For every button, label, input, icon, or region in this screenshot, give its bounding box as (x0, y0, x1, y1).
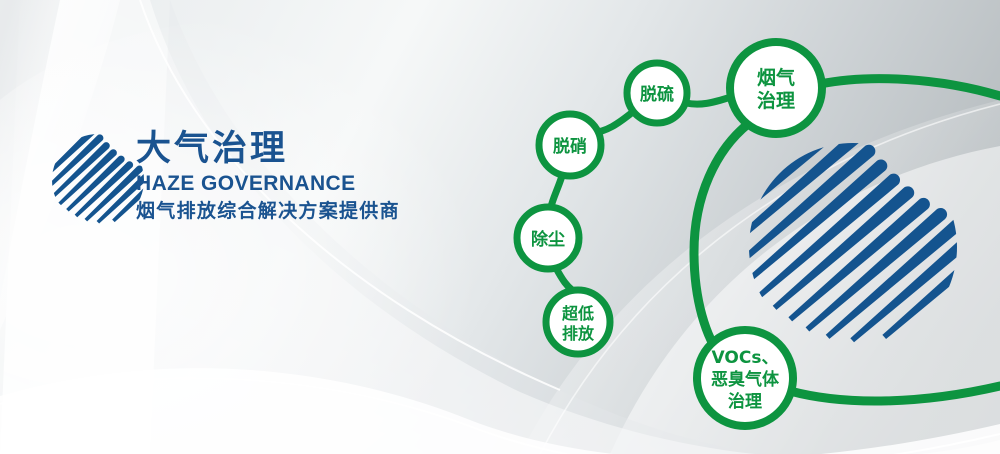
node-vocs[interactable]: VOCs、 恶臭气体 治理 (697, 330, 793, 426)
banner-root: 大气治理 HAZE GOVERNANCE 烟气排放综合解决方案提供商 (0, 0, 1000, 454)
node-main-label-line1: 烟气 (757, 66, 795, 89)
node-main[interactable]: 烟气 治理 (730, 42, 822, 134)
node-dust-removal-label: 除尘 (531, 229, 565, 250)
node-desulfurization[interactable]: 脱硫 (627, 63, 687, 123)
node-vocs-label-line3: 治理 (728, 391, 762, 412)
node-vocs-label-line1: VOCs、 (712, 348, 779, 368)
node-denitrification[interactable]: 脱硝 (539, 114, 601, 176)
node-dust-removal[interactable]: 除尘 (517, 207, 579, 269)
node-main-label-line2: 治理 (757, 89, 795, 112)
process-flow-diagram: 烟气 治理 脱硫 脱硝 除尘 超低 排放 (0, 0, 1000, 454)
connector-main-right-tail (820, 79, 1000, 96)
node-ultra-low-emission[interactable]: 超低 排放 (546, 290, 610, 354)
connector-main-to-vocs-arc (694, 124, 748, 358)
node-ultra-low-emission-label-line2: 排放 (562, 324, 595, 343)
node-vocs-label-line2: 恶臭气体 (711, 369, 780, 390)
node-desulfurization-label: 脱硫 (640, 84, 674, 105)
connector-denitrification-to-dust-removal (551, 176, 562, 207)
node-ultra-low-emission-label-line1: 超低 (561, 304, 594, 323)
diagram-nodes: 烟气 治理 脱硫 脱硝 除尘 超低 排放 (517, 42, 822, 426)
connector-dust-removal-to-ultra-low-emission (556, 268, 572, 290)
connector-vocs-right-tail (790, 386, 1000, 401)
node-denitrification-label: 脱硝 (553, 136, 587, 157)
connector-main-to-desulfurization (686, 97, 731, 104)
